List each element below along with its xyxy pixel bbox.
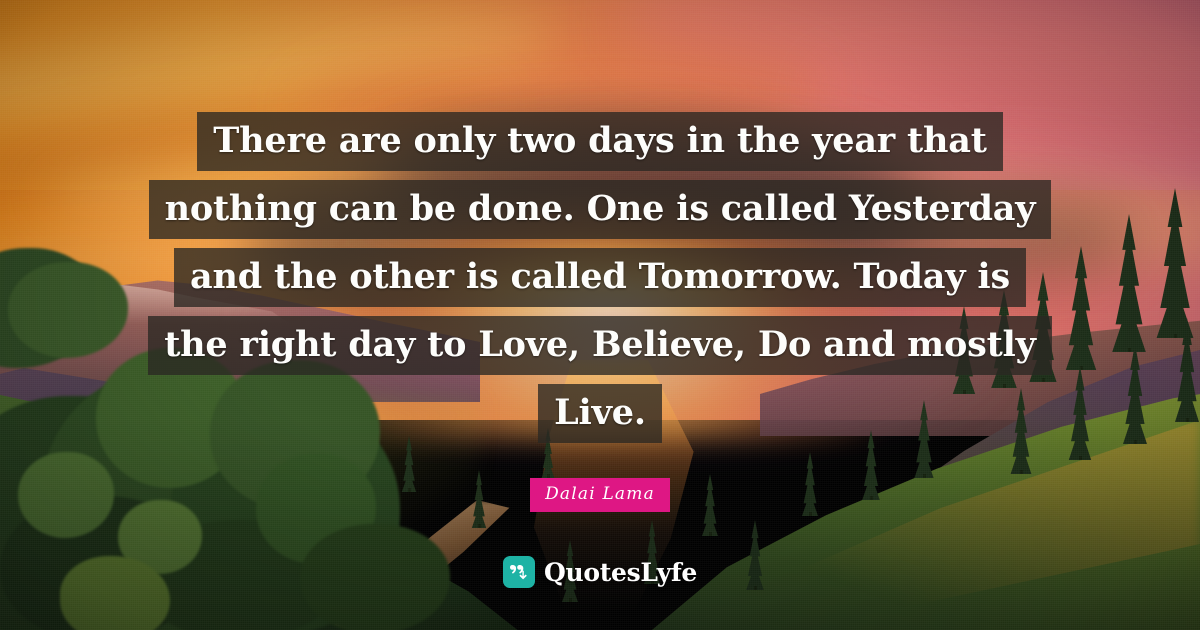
quote-line: the right day to Love, Believe, Do and m… (148, 316, 1052, 375)
quote-line: nothing can be done. One is called Yeste… (149, 180, 1052, 239)
brand-logo[interactable]: QuotesLyfe (0, 556, 1200, 588)
quote-card: There are only two days in the year that… (0, 0, 1200, 630)
quote-text-block: There are only two days in the year that… (0, 112, 1200, 452)
quote-line: and the other is called Tomorrow. Today … (174, 248, 1026, 307)
card-content: There are only two days in the year that… (0, 0, 1200, 630)
quote-line: Live. (538, 384, 662, 443)
brand-name: QuotesLyfe (544, 560, 697, 585)
quote-line: There are only two days in the year that (197, 112, 1002, 171)
quotation-mark-icon (503, 556, 535, 588)
author-badge: Dalai Lama (530, 478, 670, 512)
